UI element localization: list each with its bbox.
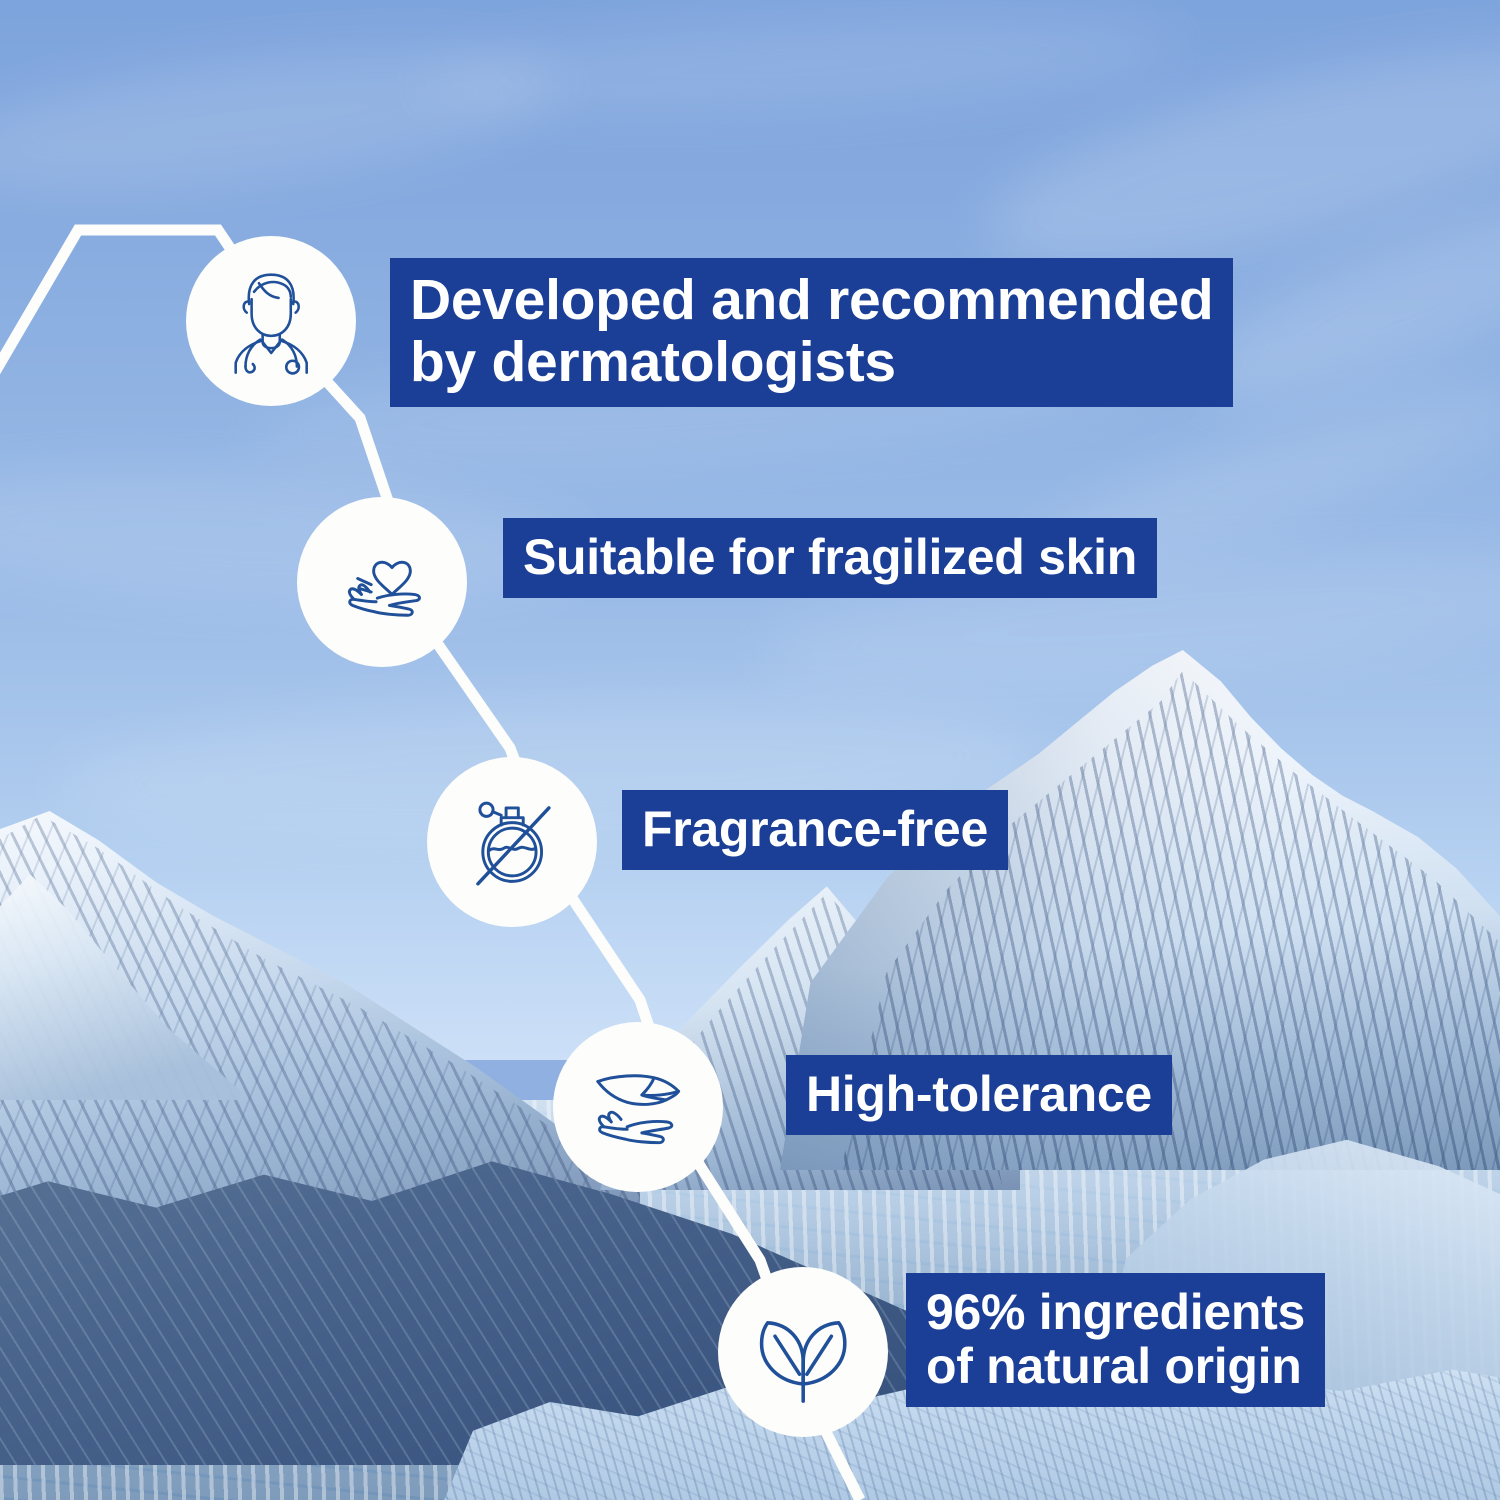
benefit-icon-bubble-natural-origin bbox=[718, 1267, 888, 1437]
no-perfume-icon bbox=[451, 781, 573, 903]
two-leaves-icon bbox=[742, 1291, 864, 1413]
benefit-icon-bubble-dermatologists bbox=[186, 236, 356, 406]
benefit-label-dermatologists: Developed and recommended by dermatologi… bbox=[390, 258, 1233, 407]
doctor-stethoscope-icon bbox=[210, 260, 332, 382]
benefit-icon-bubble-high-tolerance bbox=[553, 1022, 723, 1192]
benefit-label-fragrance-free: Fragrance-free bbox=[622, 790, 1008, 870]
benefit-icon-bubble-fragilized-skin bbox=[297, 497, 467, 667]
benefit-label-high-tolerance: High-tolerance bbox=[786, 1055, 1172, 1135]
infographic-canvas: Developed and recommended by dermatologi… bbox=[0, 0, 1500, 1500]
feather-hand-icon bbox=[577, 1046, 699, 1168]
benefit-label-natural-origin: 96% ingredients of natural origin bbox=[906, 1273, 1325, 1407]
hand-heart-icon bbox=[321, 521, 443, 643]
benefit-label-fragilized-skin: Suitable for fragilized skin bbox=[503, 518, 1157, 598]
benefit-icon-bubble-fragrance-free bbox=[427, 757, 597, 927]
